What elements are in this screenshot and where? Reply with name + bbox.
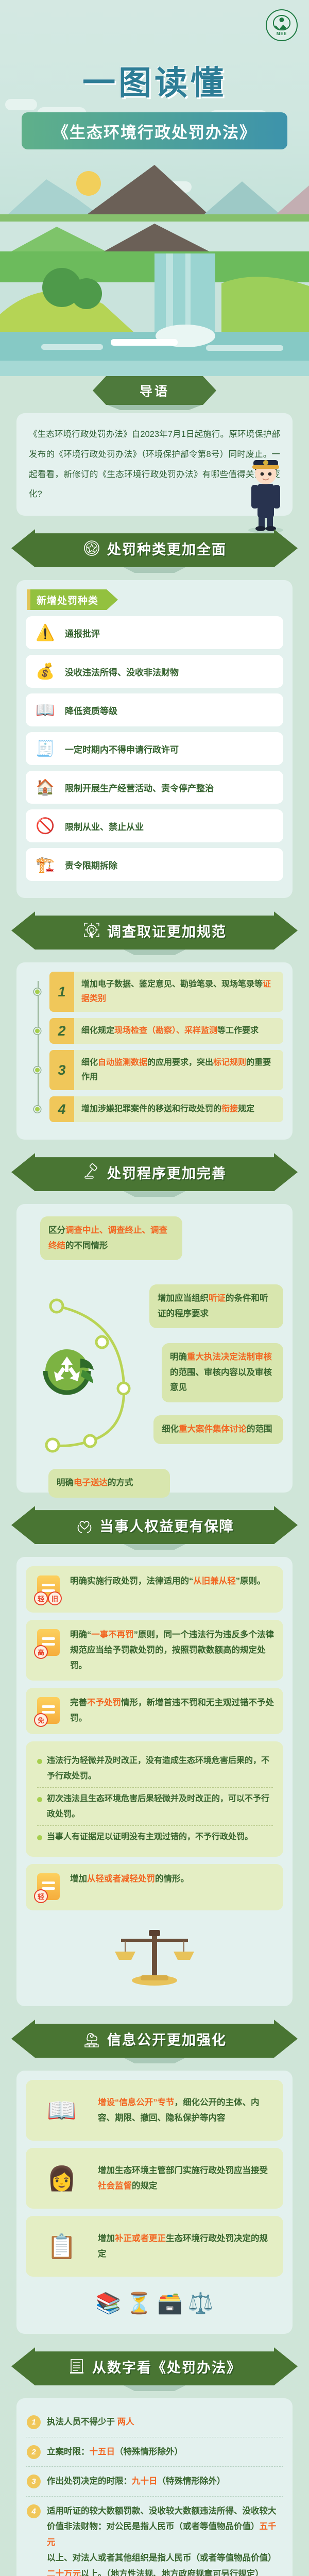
body-text: 完善 [70,1698,87,1707]
list-item[interactable]: 🏠限制开展生产经营活动、责令停产整治 [26,771,283,804]
gavel-icon [82,1163,101,1181]
justice-scales-icon [100,1925,209,1992]
new-penalty-types-tag: 新增处罚种类 [27,589,118,610]
section-banner-penalty-types: 处罚种类更加全面 [11,529,298,567]
procedure-bubble: 细化重大案件集体讨论的范围 [153,1415,283,1444]
rights-list: 轻旧明确实施行政处罚，法律适用的“从旧兼从轻”原则。高明确“一事不再罚”原则，同… [26,1566,283,1910]
infographic-page: MEE 一图读懂 《生态环境行政处罚办法》 [0,0,309,2576]
item-text: 细化规定现场检查（勘察）、采样监测等工作要求 [74,1018,283,1044]
stat-row: 4适用听证的较大数额罚款、没收较大数额违法所得、没收较大价值非法财物：对公民是指… [26,2496,283,2576]
hero-header: MEE 一图读懂 《生态环境行政处罚办法》 [0,0,309,222]
bullet-item: 初次违法且生态环境危害后果轻微并及时改正的，可以不予行政处罚。 [37,1787,273,1825]
stat-text: 立案时限：十五日（特殊情形除外） [47,2444,282,2460]
procedure-bubble: 增加应当组织听证的条件和听证的程序要求 [149,1284,283,1328]
disclosure-illustration: 📚⏳🗃️⚖️ [26,2284,283,2323]
body-text: 的范围 [247,1425,272,1434]
section-banner-rights: 当事人权益更有保障 [11,1506,298,1544]
document-stamp-icon: 轻 [34,1871,63,1903]
highlight-text: 二十万元 [47,2569,81,2576]
body-text: 增加 [70,1874,87,1884]
highlight-text: 听证 [209,1294,226,1303]
list-item[interactable]: 💰没收违法所得、没收非法财物 [26,655,283,688]
rights-item: 免完善不予处罚情形，新增首违不罚和无主观过错不予处罚。 [26,1688,283,1734]
license-card-icon: 🧾 [33,736,58,761]
intro-card: 《生态环境行政处罚办法》自2023年7月1日起施行。原环境保护部发布的《环境行政… [16,413,293,516]
statistics-list: 1执法人员不得少于 两人2立案时限：十五日（特殊情形除外）3作出处罚决定的时限：… [26,2408,283,2576]
body-text: 细化 [81,1058,98,1067]
rights-item-text: 明确“一事不再罚”原则，同一个违法行为违反多个法律规范应当给予罚款处罚的，按照罚… [70,1627,275,1673]
bullet-text: 当事人有证据足以证明没有主观过错的，不予行政处罚。 [47,1829,253,1845]
disclosure-item-text: 增加生态环境主管部门实施行政处罚应当接受社会监督的规定 [98,2163,275,2194]
stamp-badge: 轻 [34,1591,48,1605]
stat-number: 1 [27,2415,41,2429]
list-item-label: 限制开展生产经营活动、责令停产整治 [65,781,214,794]
investigation-list: 1增加电子数据、鉴定意见、勘验笔录、现场笔录等证据类别2细化规定现场检查（勘察）… [26,972,283,1122]
warning-triangle-icon: ⚠️ [33,620,58,645]
timeline-dot [34,989,41,995]
rights-item: 轻旧明确实施行政处罚，法律适用的“从旧兼从轻”原则。 [26,1566,283,1613]
body-text: （特殊情形除外） [158,2477,226,2486]
intro-banner: 导语 [0,376,309,410]
document-stamp-icon: 轻旧 [34,1573,63,1605]
body-text: 执法人员不得少于 [47,2417,117,2427]
stat-row: 3作出处罚决定的时限：九十日（特殊情形除外） [26,2466,283,2496]
item-number: 3 [49,1050,74,1090]
highlight-text: 自动监测数据 [98,1058,147,1067]
stat-number: 3 [27,2475,41,2488]
list-item-label: 通报批评 [65,626,100,639]
highlight-text: 现场检查（勘察）、采样监测 [114,1026,217,1035]
rights-item: 高明确“一事不再罚”原则，同一个违法行为违反多个法律规范应当给予罚款处罚的，按照… [26,1620,283,1681]
body-text: 以上。（地方性法规、地方政府规章可另行规定） [81,2569,264,2576]
highlight-text: 从旧兼从轻 [193,1577,236,1586]
list-item[interactable]: 🚫限制从业、禁止从业 [26,809,283,842]
timeline-dot [34,1028,41,1035]
highlight-text: 电子送达 [74,1478,108,1487]
section-banner-procedure: 处罚程序更加完善 [11,1153,298,1191]
item-text: 细化自动监测数据的应用要求，突出标记规则的重要作用 [74,1050,283,1090]
procedure-bubble: 明确重大执法决定法制审核的范围、审核内容以及审核意见 [162,1343,283,1402]
stamp-badge: 免 [34,1713,48,1727]
bullet-dot [37,1797,42,1802]
section-banner-label: 处罚种类更加全面 [107,538,227,558]
list-item-label: 限制从业、禁止从业 [65,820,144,833]
body-text: 明确“ [70,1630,91,1639]
stat-row: 2立案时限：十五日（特殊情形除外） [26,2437,283,2467]
section-banner-label: 信息公开更加强化 [107,2029,227,2049]
page-title: 一图读懂 [0,57,309,104]
bullet-item: 当事人有证据足以证明没有主观过错的，不予行政处罚。 [37,1825,273,1849]
rights-item-text: 明确实施行政处罚，法律适用的“从旧兼从轻”原则。 [70,1573,275,1589]
officer-mascot-icon [242,447,289,533]
body-text: 增加电子数据、鉴定意见、勘验笔录、现场笔录等 [81,980,263,989]
section-banner-label: 从数字看《处罚办法》 [92,2357,242,2377]
section-banner-label: 处罚程序更加完善 [107,1162,227,1182]
tag-label: 新增处罚种类 [30,589,107,610]
open-book-icon: 📖 [34,2088,90,2132]
body-text: 增加 [98,2234,115,2243]
disclosure-item-text: 增加补正或者更正生态环境行政处罚决定的规定 [98,2231,275,2262]
bullet-text: 初次违法且生态环境危害后果轻微并及时改正的，可以不予行政处罚。 [47,1791,273,1822]
procedure-bubble: 区分调查中止、调查终止、调查终结的不同情形 [40,1216,182,1260]
body-text: 增加涉嫌犯罪案件的移送和行政处罚的 [81,1105,221,1113]
procedure-diagram: 区分调查中止、调查终止、调查终结的不同情形 增加应当组织听证的条件和听证的程序要… [26,1213,283,1481]
highlight-text: 标记规则 [213,1058,246,1067]
body-text: 的规定 [132,2181,158,2191]
star-badge-icon [82,539,101,557]
body-text: 细化规定 [81,1026,114,1035]
ledger-book-icon [67,2357,86,2376]
list-item-label: 降低资质等级 [65,704,117,717]
highlight-text: 增设“信息公开”专节 [98,2098,175,2107]
bullet-text: 违法行为轻微并及时改正，没有造成生态环境危害后果的，不予行政处罚。 [47,1753,273,1784]
list-item[interactable]: 🏗️责令限期拆除 [26,848,283,881]
body-text: 增加生态环境主管部门实施行政处罚应当接受 [98,2166,268,2175]
mountain-silhouette [0,149,309,222]
section-banner-numbers: 从数字看《处罚办法》 [11,2347,298,2385]
disclosure-card: 📖增设“信息公开”专节，细化公开的主体、内容、期限、撤回、隐私保护等内容👩增加生… [16,2071,293,2334]
cloud-network-icon [82,2029,101,2048]
body-text: 明确 [57,1478,74,1487]
body-text: ”原则。 [236,1577,266,1586]
body-text: 等工作要求 [217,1026,259,1035]
bullet-dot [37,1835,42,1840]
target-scope-icon [82,921,101,940]
item-number: 2 [49,1018,74,1044]
highlight-text: 两人 [117,2417,134,2427]
body-text: 的方式 [108,1478,133,1487]
highlight-text: 一事不再罚 [91,1630,134,1639]
highlight-text: 九十日 [132,2477,158,2486]
body-text: 区分 [48,1226,65,1235]
body-text: 明确 [170,1352,187,1362]
numbers-card: 1执法人员不得少于 两人2立案时限：十五日（特殊情形除外）3作出处罚决定的时限：… [16,2398,293,2576]
list-item-label: 责令限期拆除 [65,858,117,871]
stat-text: 适用听证的较大数额罚款、没收较大数额违法所得、没收较大价值非法财物：对公民是指人… [47,2503,282,2576]
logo-text: MEE [277,31,287,36]
list-item: 3细化自动监测数据的应用要求，突出标记规则的重要作用 [49,1050,283,1090]
document-stamp-icon: 高 [34,1627,63,1659]
stat-text: 执法人员不得少于 两人 [47,2414,282,2430]
body-text: 的范围、审核内容以及审核意见 [170,1368,272,1393]
decorative-icon: ⏳ [126,2291,152,2315]
list-item[interactable]: 🧾一定时期内不得申请行政许可 [26,732,283,765]
section-banner-disclosure: 信息公开更加强化 [11,2020,298,2058]
highlight-text: 不予处罚 [87,1698,121,1707]
highlight-text: 补正或者更正 [115,2234,166,2243]
heart-hands-icon [75,1516,94,1534]
open-book-icon: 📖 [33,698,58,722]
mee-logo: MEE [266,9,298,41]
body-text: 的应用要求，突出 [147,1058,213,1067]
procedure-card: 区分调查中止、调查终止、调查终结的不同情形 增加应当组织听证的条件和听证的程序要… [16,1204,293,1493]
list-item: 1增加电子数据、鉴定意见、勘验笔录、现场笔录等证据类别 [49,972,283,1012]
decorative-icon: 🗃️ [157,2291,183,2315]
document-stamp-icon: 免 [34,1695,63,1727]
woman-pointing-icon: 👩 [34,2156,90,2200]
item-number: 4 [49,1096,74,1122]
penalty-type-list: ⚠️通报批评💰没收违法所得、没收非法财物📖降低资质等级🧾一定时期内不得申请行政许… [26,616,283,881]
rights-bullets: 违法行为轻微并及时改正，没有造成生态环境危害后果的，不予行政处罚。初次违法且生态… [26,1741,283,1857]
rights-card: 轻旧明确实施行政处罚，法律适用的“从旧兼从轻”原则。高明确“一事不再罚”原则，同… [16,1557,293,2006]
no-money-icon: 💰 [33,659,58,684]
disclosure-list: 📖增设“信息公开”专节，细化公开的主体、内容、期限、撤回、隐私保护等内容👩增加生… [26,2080,283,2277]
landscape-scene [0,222,309,376]
item-number: 1 [49,972,74,1012]
eco-recycle-icon [40,1343,98,1401]
scales-illustration [26,1918,283,1995]
list-item: 4增加涉嫌犯罪案件的移送和行政处罚的衔接规定 [49,1096,283,1122]
body-text: 立案时限： [47,2447,90,2456]
body-text: 的不同情形 [65,1241,108,1250]
body-text: 作出处罚决定的时限： [47,2477,132,2486]
stat-number: 2 [27,2445,41,2459]
list-item[interactable]: ⚠️通报批评 [26,616,283,649]
list-item[interactable]: 📖降低资质等级 [26,693,283,726]
logo-emblem [273,15,290,30]
no-factory-icon: 🏠 [33,775,58,800]
body-text: 适用听证的较大数额罚款、没收较大数额违法所得、没收较大价值非法财物：对公民是指人… [47,2506,277,2532]
highlight-text: 衔接 [221,1105,238,1113]
stat-number: 4 [27,2504,41,2518]
penalty-types-card: 新增处罚种类 ⚠️通报批评💰没收违法所得、没收非法财物📖降低资质等级🧾一定时期内… [16,580,293,898]
highlight-text: 重大执法决定法制审核 [187,1352,272,1362]
stat-row: 1执法人员不得少于 两人 [26,2408,283,2437]
decorative-icon: 📚 [95,2291,121,2315]
list-item: 2细化规定现场检查（勘察）、采样监测等工作要求 [49,1018,283,1044]
highlight-text: 从轻或者减轻处罚 [87,1874,155,1884]
stamp-badge: 高 [34,1645,48,1659]
procedure-bubble: 明确电子送达的方式 [48,1469,170,1498]
stamp-badge: 旧 [48,1591,62,1605]
clipboard-icon: 📋 [34,2224,90,2268]
item-text: 增加电子数据、鉴定意见、勘验笔录、现场笔录等证据类别 [74,972,283,1012]
body-text: 以上、对法人或者其他组织是指人民币（或者等值物品价值） [47,2553,277,2563]
bullet-dot [37,1759,42,1764]
decorative-icon: ⚖️ [188,2291,214,2315]
rights-item: 轻增加从轻或者减轻处罚的情形。 [26,1864,283,1910]
crane-demolish-icon: 🏗️ [33,852,58,877]
body-text: 规定 [238,1105,254,1113]
body-text: 明确实施行政处罚，法律适用的“ [70,1577,193,1586]
list-item-label: 一定时期内不得申请行政许可 [65,742,179,755]
highlight-text: 重大案件集体讨论 [179,1425,247,1434]
disclosure-item-text: 增设“信息公开”专节，细化公开的主体、内容、期限、撤回、隐私保护等内容 [98,2095,275,2126]
timeline-dot [34,1067,41,1074]
rights-item-text: 完善不予处罚情形，新增首违不罚和无主观过错不予处罚。 [70,1695,275,1726]
disclosure-item: 👩增加生态环境主管部门实施行政处罚应当接受社会监督的规定 [26,2148,283,2209]
disclosure-item: 📋增加补正或者更正生态环境行政处罚决定的规定 [26,2216,283,2277]
section-banner-investigation: 调查取证更加规范 [11,911,298,950]
stat-text: 作出处罚决定的时限：九十日（特殊情形除外） [47,2473,282,2489]
no-worker-icon: 🚫 [33,814,58,838]
item-text: 增加涉嫌犯罪案件的移送和行政处罚的衔接规定 [74,1096,283,1122]
section-banner-label: 当事人权益更有保障 [100,1515,234,1535]
timeline-dot [34,1106,41,1113]
scene-art [0,222,309,376]
investigation-card: 1增加电子数据、鉴定意见、勘验笔录、现场笔录等证据类别2细化规定现场检查（勘察）… [16,962,293,1140]
section-banner-label: 调查取证更加规范 [107,921,227,941]
body-text: 的情形。 [155,1874,189,1884]
body-text: 增加应当组织 [158,1294,209,1303]
bullet-item: 违法行为轻微并及时改正，没有造成生态环境危害后果的，不予行政处罚。 [37,1750,273,1787]
rights-item-text: 增加从轻或者减轻处罚的情形。 [70,1871,275,1887]
highlight-text: 十五日 [90,2447,115,2456]
list-item-label: 没收违法所得、没收非法财物 [65,665,179,678]
body-text: 细化 [162,1425,179,1434]
body-text: （特殊情形除外） [115,2447,183,2456]
stamp-badge: 轻 [34,1889,48,1903]
highlight-text: 社会监督 [98,2181,132,2191]
page-subtitle: 《生态环境行政处罚办法》 [22,112,287,149]
disclosure-item: 📖增设“信息公开”专节，细化公开的主体、内容、期限、撤回、隐私保护等内容 [26,2080,283,2141]
intro-banner-label: 导语 [93,376,216,405]
